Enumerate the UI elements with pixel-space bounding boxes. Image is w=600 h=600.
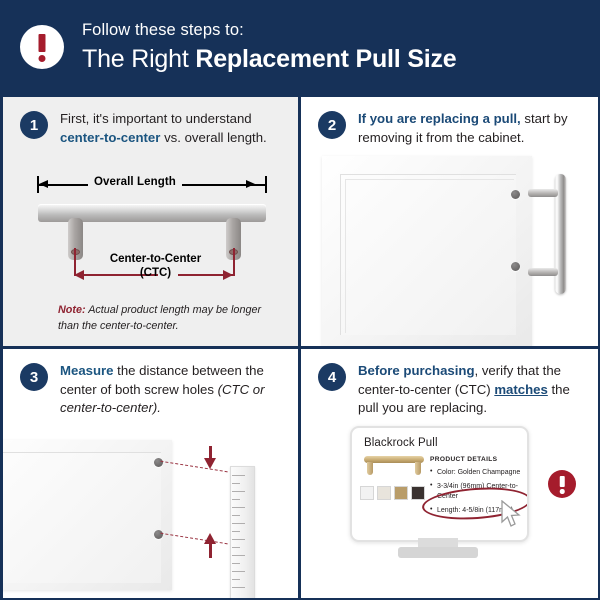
screw-hole-bottom-3: [154, 530, 163, 539]
measure-arrow-up: [204, 533, 216, 544]
grid-divider-horizontal: [0, 346, 600, 349]
door-inner-frame-2: [345, 179, 514, 333]
arrow-stem-bottom: [209, 544, 212, 558]
screw-hole-bottom: [511, 262, 520, 271]
step-number-4: 4: [318, 363, 346, 391]
header-kicker: Follow these steps to:: [82, 22, 457, 39]
step-panel-3: 3 Measure the distance between the cente…: [2, 348, 298, 598]
pull-leg-top: [528, 189, 558, 197]
step-1-emphasis: center-to-center: [60, 130, 160, 145]
step-4-heading: 4 Before purchasing, verify that the cen…: [318, 362, 588, 418]
step-4-link[interactable]: matches: [494, 382, 548, 397]
step-1-tail: vs. overall length.: [160, 130, 266, 145]
title-light-part: The Right: [82, 45, 195, 73]
step-1-heading: 1 First, it's important to understand ce…: [20, 110, 290, 147]
step-panel-1: 1 First, it's important to understand ce…: [2, 96, 298, 346]
product-image: [364, 456, 424, 478]
page-title: The Right Replacement Pull Size: [82, 47, 457, 72]
step-panel-2: 2 If you are replacing a pull, start by …: [300, 96, 598, 346]
measure-illustration-3: [2, 348, 298, 598]
step-1-lead: First, it's important to understand: [60, 111, 252, 126]
screw-hole-top-3: [154, 458, 163, 467]
product-details-heading: PRODUCT DETAILS: [430, 456, 497, 463]
infographic-page: Follow these steps to: The Right Replace…: [0, 0, 600, 600]
door-inner-frame-3: [2, 452, 161, 583]
ctc-label: Center-to-Center (CTC): [98, 252, 213, 281]
step-panel-4: 4 Before purchasing, verify that the cen…: [300, 348, 598, 598]
step-4-text: Before purchasing, verify that the cente…: [358, 362, 588, 418]
thumbnail-3[interactable]: [394, 486, 408, 500]
monitor-stand-base: [398, 547, 478, 558]
measure-arrow-down: [204, 458, 216, 469]
ruler: [230, 466, 255, 598]
note-label: Note:: [58, 304, 86, 316]
monitor-illustration: Blackrock Pull PRODUCT DETAILS: [350, 426, 525, 558]
grid-edge-left: [0, 94, 3, 600]
diagram-note: Note: Actual product length may be longe…: [58, 302, 273, 334]
product-title: Blackrock Pull: [364, 437, 438, 449]
thumbnail-2[interactable]: [377, 486, 391, 500]
step-4-emphasis: Before purchasing: [358, 363, 475, 378]
ctc-label-line1: Center-to-Center: [98, 252, 213, 266]
title-bold-part: Replacement Pull Size: [195, 45, 456, 73]
product-detail-item: Color: Golden Champagne: [430, 468, 522, 478]
pull-leg-bottom: [528, 268, 558, 276]
product-page-screen: Blackrock Pull PRODUCT DETAILS: [350, 426, 529, 542]
step-number-1: 1: [20, 111, 48, 139]
screw-hole-top: [511, 190, 520, 199]
step-1-text: First, it's important to understand cent…: [60, 110, 290, 147]
steps-grid: 1 First, it's important to understand ce…: [0, 94, 600, 600]
product-thumbnails[interactable]: [360, 486, 425, 500]
pull-dimension-diagram: Overall Length Center-to-Center (CTC): [28, 174, 278, 294]
grid-edge-top: [0, 94, 600, 97]
cabinet-door-illustration-2: [300, 96, 598, 346]
ctc-label-line2: (CTC): [98, 266, 213, 280]
mouse-pointer-icon: [500, 500, 522, 528]
thumbnail-4[interactable]: [411, 486, 425, 500]
thumbnail-1[interactable]: [360, 486, 374, 500]
header-text-block: Follow these steps to: The Right Replace…: [82, 22, 457, 73]
note-body: Actual product length may be longer than…: [58, 304, 261, 332]
overall-length-label: Overall Length: [88, 176, 182, 188]
header-banner: Follow these steps to: The Right Replace…: [0, 0, 600, 94]
exclamation-icon: [20, 25, 64, 69]
exclamation-badge-icon: [548, 470, 576, 498]
